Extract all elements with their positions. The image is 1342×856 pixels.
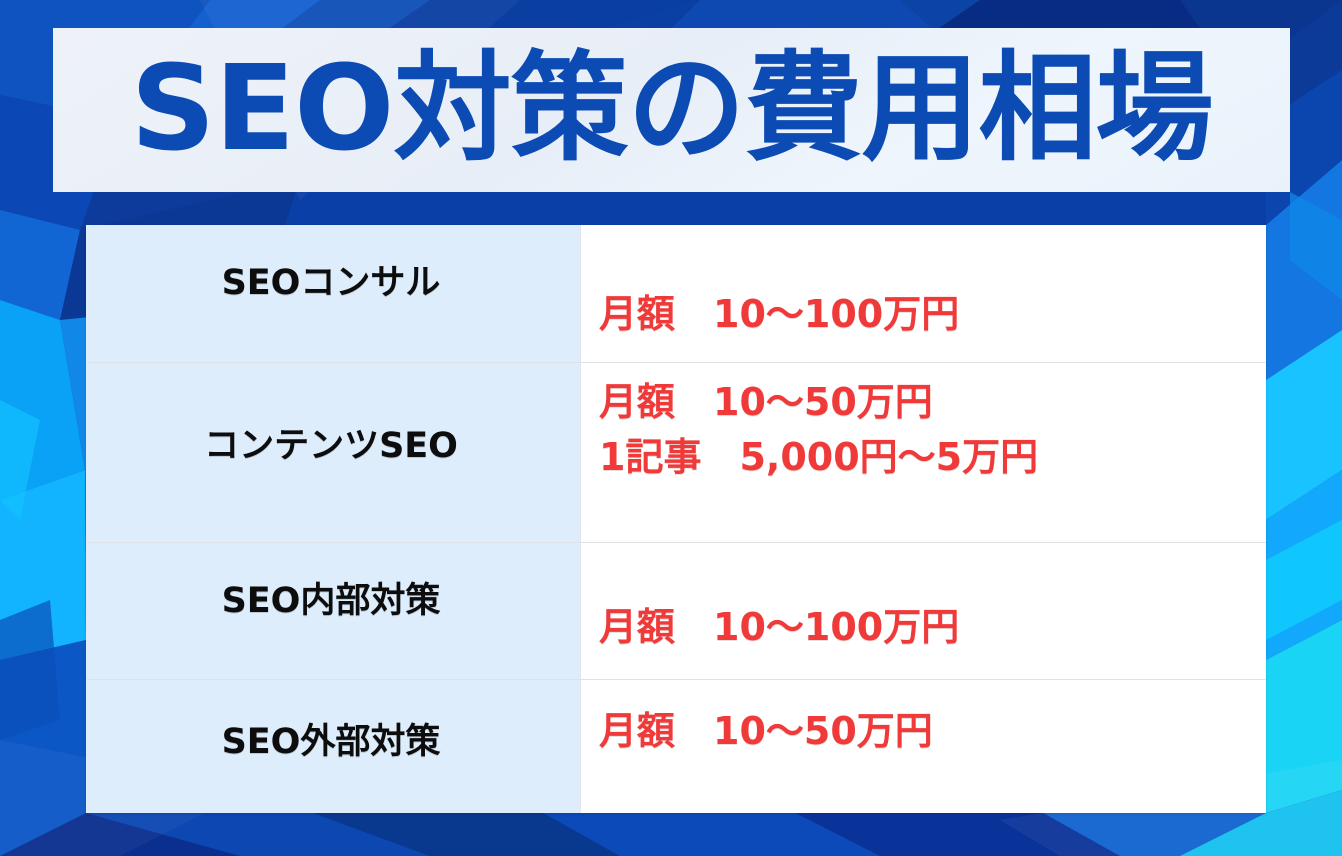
price-line: 月額 10〜50万円	[599, 375, 1266, 430]
table-cell-label: SEO外部対策	[86, 680, 581, 813]
table-row: SEO内部対策 月額 10〜100万円	[86, 543, 1266, 680]
table-cell-price: 月額 10〜100万円	[581, 543, 1266, 679]
service-name: コンテンツSEO	[204, 417, 458, 468]
page-title: SEO対策の費用相場	[131, 49, 1213, 167]
price-line: 月額 10〜100万円	[599, 287, 1266, 342]
table-cell-price: 月額 10〜50万円	[581, 680, 1266, 813]
title-banner: SEO対策の費用相場	[53, 28, 1290, 192]
price-line: 月額 10〜100万円	[599, 600, 1266, 655]
table-row: コンテンツSEO 月額 10〜50万円 1記事 5,000円〜5万円	[86, 363, 1266, 543]
table-cell-label: コンテンツSEO	[86, 363, 581, 542]
table-cell-price: 月額 10〜50万円 1記事 5,000円〜5万円	[581, 363, 1266, 542]
table-cell-label: SEO内部対策	[86, 543, 581, 679]
table-cell-price: 月額 10〜100万円	[581, 225, 1266, 362]
service-name: SEOコンサル	[222, 254, 441, 305]
slide-canvas: SEO対策の費用相場 SEOコンサル 月額 10〜100万円 コンテンツSEO …	[0, 0, 1342, 856]
service-name: SEO内部対策	[222, 572, 441, 623]
service-name: SEO外部対策	[222, 713, 441, 764]
price-line: 1記事 5,000円〜5万円	[599, 430, 1266, 485]
price-table: SEOコンサル 月額 10〜100万円 コンテンツSEO 月額 10〜50万円 …	[86, 225, 1266, 813]
table-row: SEO外部対策 月額 10〜50万円	[86, 680, 1266, 813]
price-line: 月額 10〜50万円	[599, 704, 1266, 759]
table-row: SEOコンサル 月額 10〜100万円	[86, 225, 1266, 363]
table-cell-label: SEOコンサル	[86, 225, 581, 362]
